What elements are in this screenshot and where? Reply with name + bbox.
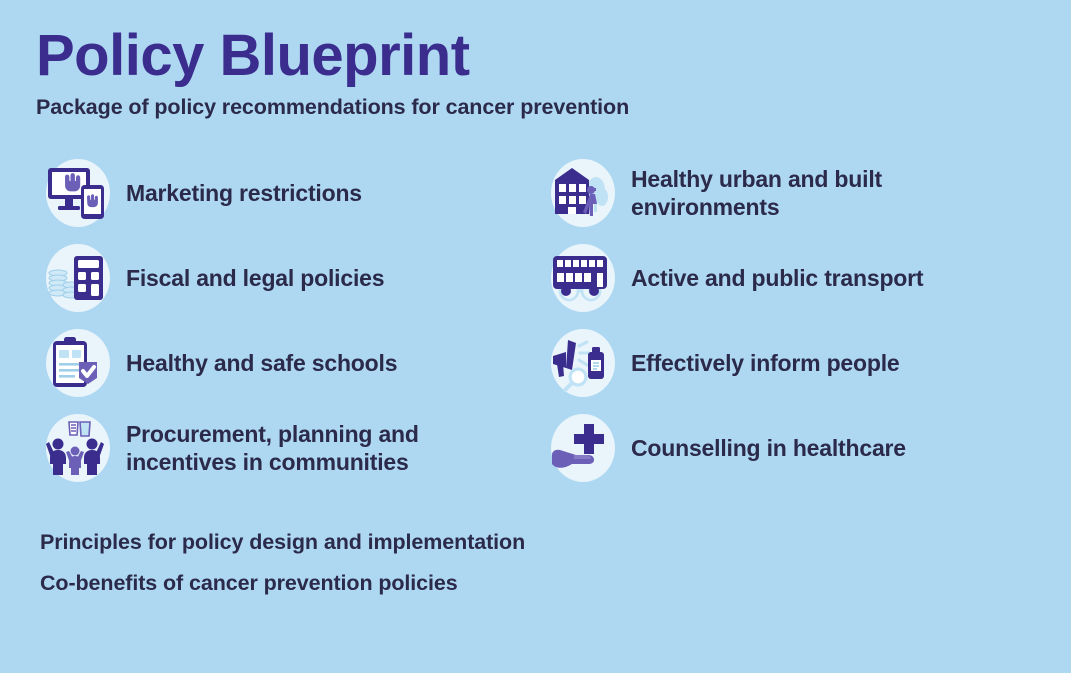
recommendation-item-marketing-restrictions: Marketing restrictions	[40, 150, 545, 235]
page-title: Policy Blueprint	[36, 26, 1041, 85]
clipboard-checkmark-icon	[40, 327, 112, 399]
recommendation-label: Healthy and safe schools	[126, 349, 397, 377]
bus-bicycle-icon	[545, 242, 617, 314]
recommendation-item-counselling-healthcare: Counselling in healthcare	[545, 405, 1050, 490]
recommendation-item-active-public-transport: Active and public transport	[545, 235, 1050, 320]
footer-section: Principles for policy design and impleme…	[40, 532, 1041, 594]
footer-line-cobenefits: Co-benefits of cancer prevention policie…	[40, 573, 1041, 595]
hand-medical-cross-icon	[545, 412, 617, 484]
building-pedestrian-tree-icon	[545, 157, 617, 229]
recommendation-label: Healthy urban and built environments	[631, 165, 1031, 221]
page-subtitle: Package of policy recommendations for ca…	[36, 95, 1041, 120]
recommendation-item-healthy-safe-schools: Healthy and safe schools	[40, 320, 545, 405]
recommendation-item-procurement-planning-incentives: Procurement, planning and incentives in …	[40, 405, 545, 490]
megaphone-bottle-magnifier-icon	[545, 327, 617, 399]
recommendation-label: Fiscal and legal policies	[126, 264, 384, 292]
recommendation-label: Counselling in healthcare	[631, 434, 906, 462]
recommendation-label: Active and public transport	[631, 264, 923, 292]
people-community-icon	[40, 412, 112, 484]
recommendation-item-fiscal-legal-policies: Fiscal and legal policies	[40, 235, 545, 320]
recommendations-grid: Marketing restrictions	[40, 150, 1041, 490]
screen-devices-stop-hand-icon	[40, 157, 112, 229]
recommendation-label: Marketing restrictions	[126, 179, 362, 207]
policy-blueprint-poster: Policy Blueprint Package of policy recom…	[0, 0, 1071, 673]
recommendation-item-healthy-urban-built-environments: Healthy urban and built environments	[545, 150, 1050, 235]
calculator-coins-icon	[40, 242, 112, 314]
footer-line-principles: Principles for policy design and impleme…	[40, 532, 1041, 554]
recommendation-item-effectively-inform-people: Effectively inform people	[545, 320, 1050, 405]
recommendation-label: Procurement, planning and incentives in …	[126, 420, 526, 476]
recommendation-label: Effectively inform people	[631, 349, 900, 377]
